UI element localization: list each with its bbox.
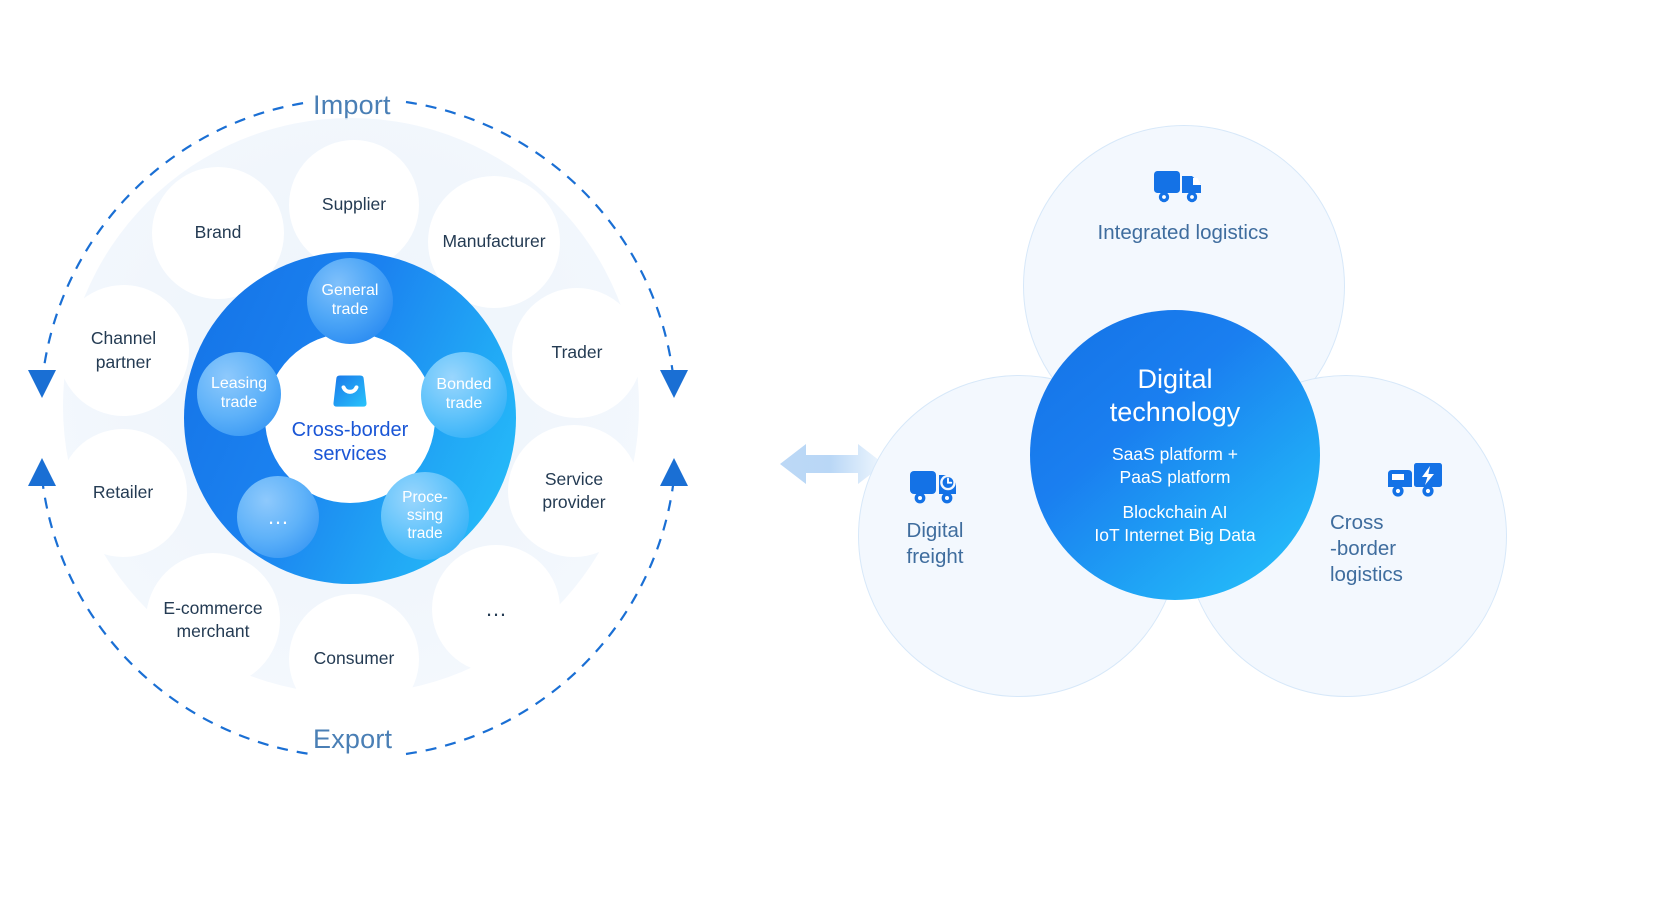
participant-label: Trader bbox=[552, 341, 603, 364]
arrow-head-down-right bbox=[660, 370, 688, 398]
cross-border-services-diagram: Import Export Supplier Manufacturer Trad… bbox=[0, 0, 720, 908]
participant-label: Service provider bbox=[542, 468, 605, 514]
participant-label: Manufacturer bbox=[442, 230, 545, 253]
participant-label: … bbox=[485, 594, 507, 623]
trade-processing[interactable]: Proce- ssing trade bbox=[381, 472, 469, 560]
participant-label: Channel partner bbox=[91, 327, 156, 373]
digital-technology-core: Digital technology SaaS platform + PaaS … bbox=[1030, 310, 1320, 600]
core-subtitle-technologies: Blockchain AI IoT Internet Big Data bbox=[1094, 501, 1255, 547]
segment-label-integrated-logistics: Integrated logistics bbox=[1033, 220, 1333, 246]
trade-more[interactable]: … bbox=[237, 476, 319, 558]
participant-label: Brand bbox=[195, 221, 242, 244]
trade-label: General trade bbox=[322, 282, 379, 320]
participant-trader[interactable]: Trader bbox=[512, 288, 642, 418]
trade-label: Leasing trade bbox=[211, 375, 267, 413]
participant-service-provider[interactable]: Service provider bbox=[508, 425, 640, 557]
participant-label: Retailer bbox=[93, 481, 153, 504]
arrow-head-down-left bbox=[28, 370, 56, 398]
participant-label: Supplier bbox=[322, 193, 386, 216]
shopping-bag-icon bbox=[328, 370, 372, 414]
trade-bonded[interactable]: Bonded trade bbox=[421, 352, 507, 438]
truck-electric-icon bbox=[1386, 458, 1444, 504]
participant-consumer[interactable]: Consumer bbox=[289, 594, 419, 724]
center-label-line1: Cross-border bbox=[292, 418, 409, 442]
participant-more[interactable]: … bbox=[432, 545, 560, 673]
digital-technology-diagram: Integrated logistics Digital freight Cro… bbox=[830, 0, 1676, 908]
trade-label: Proce- ssing trade bbox=[402, 489, 448, 544]
participant-channel-partner[interactable]: Channel partner bbox=[58, 285, 189, 416]
trade-general[interactable]: General trade bbox=[307, 258, 393, 344]
participant-supplier[interactable]: Supplier bbox=[289, 140, 419, 270]
truck-clock-icon bbox=[908, 465, 962, 509]
participant-e-commerce-merchant[interactable]: E-commerce merchant bbox=[146, 553, 280, 687]
truck-icon bbox=[1152, 165, 1206, 207]
arrow-head-up-left bbox=[28, 458, 56, 486]
core-title: Digital technology bbox=[1110, 363, 1241, 429]
trade-leasing[interactable]: Leasing trade bbox=[197, 352, 281, 436]
participant-label: Consumer bbox=[314, 647, 395, 670]
export-label: Export bbox=[313, 724, 392, 755]
center-label-line2: services bbox=[292, 442, 409, 466]
import-label: Import bbox=[313, 90, 391, 121]
segment-label-digital-freight: Digital freight bbox=[855, 518, 1015, 570]
segment-label-cross-border-logistics: Cross -border logistics bbox=[1330, 510, 1500, 589]
trade-label: Bonded trade bbox=[436, 376, 491, 414]
participant-retailer[interactable]: Retailer bbox=[59, 429, 187, 557]
center-label: Cross-border services bbox=[292, 418, 409, 467]
trade-label: … bbox=[267, 504, 289, 530]
arrow-head-up-right bbox=[660, 458, 688, 486]
core-subtitle-platforms: SaaS platform + PaaS platform bbox=[1112, 443, 1238, 489]
participant-label: E-commerce merchant bbox=[163, 597, 262, 643]
